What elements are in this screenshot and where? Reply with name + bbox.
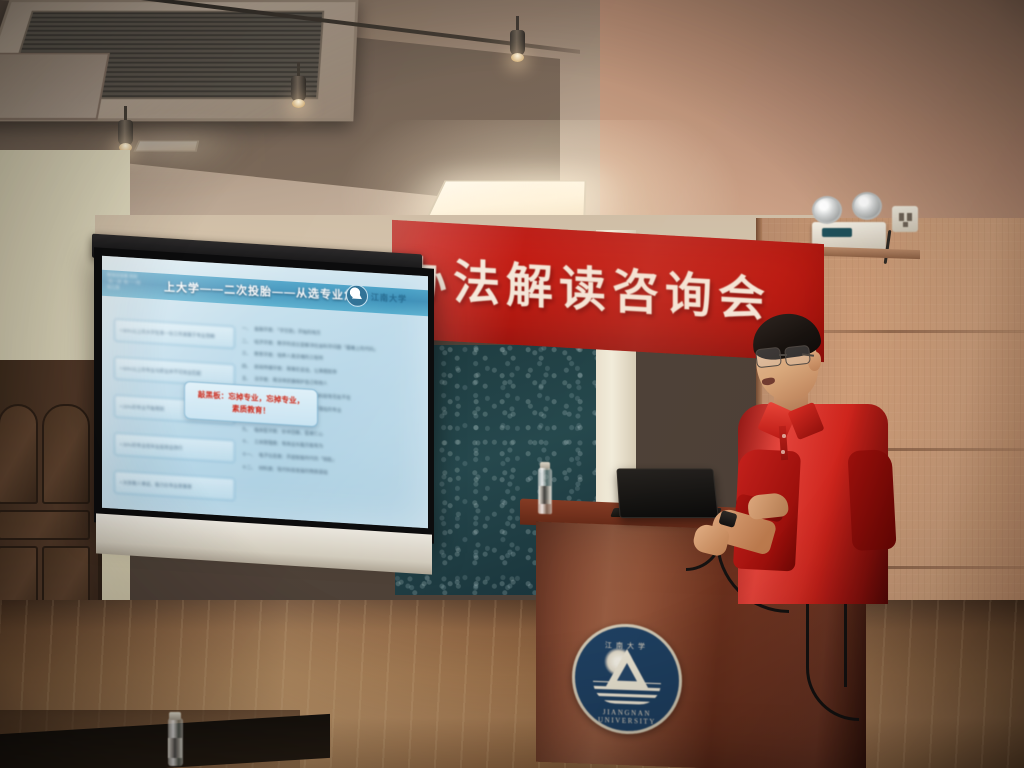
emergency-light-display — [822, 228, 852, 237]
track-spotlight-icon — [510, 30, 525, 56]
left-sleeve — [847, 449, 896, 551]
water-bottle-label — [539, 486, 551, 504]
slide-university-logo: 江南大学 — [346, 283, 422, 312]
slide-bullet-card: • 30%的专业在毕业后完全改行 — [114, 432, 235, 463]
jiangnan-university-logo-icon — [346, 284, 368, 307]
list-item-number: 十二、 — [242, 464, 256, 470]
list-item-text: 法学类：用法律武器保护自己和他人 — [254, 377, 328, 387]
list-item-number: 九、 — [242, 426, 251, 432]
shirt-button — [782, 434, 786, 438]
list-item-number: 一、 — [242, 326, 251, 332]
list-item-number: 十一、 — [242, 451, 256, 457]
emergency-lamp-right-icon — [852, 192, 882, 220]
slide-bullet-card: • 80%以上的大学生第一份工作隶属于专业范畴 — [114, 318, 235, 349]
slide-logo-text: 江南大学 — [371, 291, 407, 304]
eyeglasses-icon — [755, 347, 782, 369]
water-bottle-label — [168, 738, 182, 758]
shirt-button — [781, 450, 785, 454]
list-item-text: 电子信息类：开启智能时代的「钥匙」 — [259, 453, 337, 463]
list-item-text: 教育学类：培养人类灵魂的工程师 — [254, 352, 323, 361]
list-item-text: 新闻传播学类：用事实说话，让真相犹存 — [254, 364, 337, 374]
slide-bullet-card: • 对多数人来说，能力比专业更重要 — [114, 470, 235, 501]
emblem-triangle — [617, 663, 637, 682]
list-item-text: 金融学类：「学交割」开始的地方 — [254, 326, 321, 335]
track-spotlight-icon — [291, 76, 306, 102]
list-item-number: 二、 — [242, 338, 251, 344]
door-panel — [0, 404, 38, 504]
presentation-slide: 上大学——二次投胎——从选专业角度 教育部直属 国家 "双一流" 唯一一所轻工类… — [102, 256, 428, 529]
power-outlet-icon — [892, 206, 918, 232]
list-item-text: 临床医学类：妙手回春，医者仁心 — [254, 427, 323, 436]
door-panel — [42, 404, 90, 504]
eyeglasses-bridge — [779, 354, 787, 356]
door-panel — [0, 510, 90, 540]
list-item-text: 工商管理类：有商业头脑方能有为 — [254, 440, 323, 449]
speaker-person — [700, 300, 900, 600]
track-spotlight-icon — [118, 120, 133, 146]
list-item-number: 五、 — [242, 376, 251, 382]
water-bottle-cap — [169, 712, 181, 720]
list-item-number: 十、 — [242, 439, 251, 445]
list-item-number: 三、 — [242, 351, 251, 357]
list-item-number: 四、 — [242, 363, 251, 369]
emblem-chinese-name: 江南大学 — [575, 639, 679, 653]
emergency-lamp-left-icon — [812, 196, 842, 224]
led-ceiling-panel-icon — [133, 141, 199, 152]
callout-line-2: 素质教育！ — [232, 403, 270, 417]
list-item-text: 材料类：现代科技发展的物质基础 — [259, 465, 328, 474]
left-hand — [747, 492, 789, 520]
slide-corner-tag: 教育部直属 国家 "双一流" 唯一一所轻工类 — [107, 272, 141, 292]
lecture-hall-photo: 办法解读咨询会 上大学——二次投胎——从选专业角度 教育部直属 国家 "双一流"… — [0, 0, 1024, 768]
ceiling-ac-cassette-secondary-icon — [0, 53, 110, 120]
